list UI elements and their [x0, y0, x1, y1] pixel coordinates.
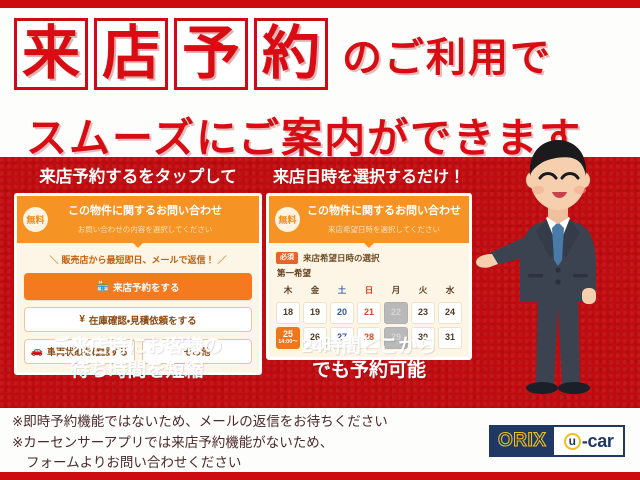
left-caption-line-2: 待ち時間を短縮 — [6, 359, 268, 383]
calendar-day-number: 24 — [445, 308, 455, 317]
ucar-wordmark: u -car — [553, 426, 624, 456]
reply-note-left-slash: ＼ — [46, 255, 61, 265]
orix-ucar-logo: ORIX u -car — [489, 425, 625, 457]
calendar-day-number: 21 — [364, 308, 374, 317]
footer-note-2: ※カーセンサーアプリでは来店予約機能がないため、 — [12, 433, 462, 454]
free-badge: 無料 — [23, 207, 48, 232]
headline-kanji-box-3: 予 — [174, 18, 248, 90]
bottom-accent-bar — [0, 472, 640, 480]
headline-section: 来 店 予 約 のご利用で スムーズにご案内ができます — [0, 8, 640, 157]
headline-kanji-box-1: 来 — [14, 18, 88, 90]
footer-note-1: ※即時予約機能ではないため、メールの返信をお待ちください — [12, 412, 462, 433]
calendar-day-cell: 22 — [384, 302, 408, 324]
calendar-weekday-header: 木 — [276, 283, 300, 299]
required-badge: 必須 — [276, 252, 298, 263]
right-feature-column: 来店日時を選択するだけ！ 無料 この物件に関するお問い合わせ 来店希望日時を選択… — [266, 163, 472, 360]
header-notch — [132, 242, 144, 248]
ucar-circle-u-icon: u — [564, 433, 581, 450]
yen-icon: ¥ — [79, 315, 85, 325]
ucar-car-text: -car — [582, 431, 614, 452]
calendar-weekday-header: 水 — [438, 283, 462, 299]
headline-kanji-box-2: 店 — [94, 18, 168, 90]
preference-label: 第一希望 — [277, 267, 462, 279]
calendar-day-cell[interactable]: 20 — [330, 302, 354, 324]
footer-note-3: フォームよりお問い合わせください — [12, 453, 462, 474]
calendar-day-number: 20 — [337, 308, 347, 317]
store-icon: 🏪 — [97, 282, 109, 292]
calendar-field-label-row: 必須 来店希望日時の選択 — [276, 252, 462, 264]
salesman-illustration — [476, 136, 640, 408]
orix-wordmark: ORIX — [490, 430, 553, 452]
calendar-day-cell[interactable]: 18 — [276, 302, 300, 324]
right-column-title: 来店日時を選択するだけ！ — [266, 163, 472, 187]
calendar-weekday-header: 土 — [330, 283, 354, 299]
reply-note-right-slash: ／ — [215, 255, 230, 265]
left-column-title: 来店予約するをタップして — [14, 163, 262, 187]
header-notch — [363, 242, 375, 248]
calendar-day-cell[interactable]: 24 — [438, 302, 462, 324]
calendar-day-number: 22 — [391, 308, 401, 317]
calendar-form-subtitle: 来店希望日時を選択してください — [328, 225, 440, 234]
free-badge: 無料 — [275, 207, 300, 232]
calendar-day-cell[interactable]: 23 — [411, 302, 435, 324]
calendar-day-cell[interactable]: 21 — [357, 302, 381, 324]
advertisement-banner: 来 店 予 約 のご利用で スムーズにご案内ができます 来店予約するをタップして… — [0, 0, 640, 480]
inquiry-form-subtitle: お問い合わせの内容を選択してください — [78, 225, 213, 234]
calendar-field-label: 来店希望日時の選択 — [303, 252, 380, 264]
stock-quote-button-label: 在庫確認・見積依頼をする — [89, 313, 197, 327]
stock-quote-button[interactable]: ¥ 在庫確認・見積依頼をする — [24, 307, 252, 332]
calendar-weekday-header: 火 — [411, 283, 435, 299]
reply-note-text: 販売店から最短即日、メールで返信！ — [61, 255, 214, 265]
calendar-weekday-header: 金 — [303, 283, 327, 299]
inquiry-form-header-text: この物件に関するお問い合わせ お問い合わせの内容を選択してください — [55, 201, 253, 237]
right-caption-line-2: でも予約可能 — [262, 359, 476, 383]
inquiry-form-title: この物件に関するお問い合わせ — [68, 205, 222, 217]
calendar-day-number: 18 — [283, 308, 293, 317]
reply-note: ＼販売店から最短即日、メールで返信！／ — [24, 253, 252, 266]
inquiry-form-header: 無料 この物件に関するお問い合わせ お問い合わせの内容を選択してください — [17, 196, 259, 243]
footer-notes: ※即時予約機能ではないため、メールの返信をお待ちください ※カーセンサーアプリで… — [12, 412, 462, 474]
calendar-form-title: この物件に関するお問い合わせ — [307, 205, 461, 217]
calendar-weekday-header: 日 — [357, 283, 381, 299]
right-caption-line-1: 24時間どこから — [262, 335, 476, 359]
calendar-day-number: 19 — [310, 308, 320, 317]
headline-tail-text: のご利用で — [342, 25, 552, 83]
right-caption: 24時間どこから でも予約可能 — [262, 335, 476, 384]
left-caption-line-1: ご来店時にお客様の — [6, 335, 268, 359]
left-caption: ご来店時にお客様の 待ち時間を短縮 — [6, 335, 268, 384]
headline-line-1: 来 店 予 約 のご利用で — [14, 18, 552, 90]
calendar-form-header-text: この物件に関するお問い合わせ 来店希望日時を選択してください — [307, 201, 472, 237]
visit-reservation-button[interactable]: 🏪 来店予約をする — [24, 273, 252, 300]
calendar-day-number: 23 — [418, 308, 428, 317]
calendar-day-cell[interactable]: 19 — [303, 302, 327, 324]
top-accent-bar — [0, 0, 640, 8]
calendar-weekday-header: 月 — [384, 283, 408, 299]
calendar-form-header: 無料 この物件に関するお問い合わせ 来店希望日時を選択してください — [269, 196, 469, 243]
headline-kanji-box-4: 約 — [254, 18, 328, 90]
visit-reservation-button-label: 来店予約をする — [113, 280, 180, 294]
